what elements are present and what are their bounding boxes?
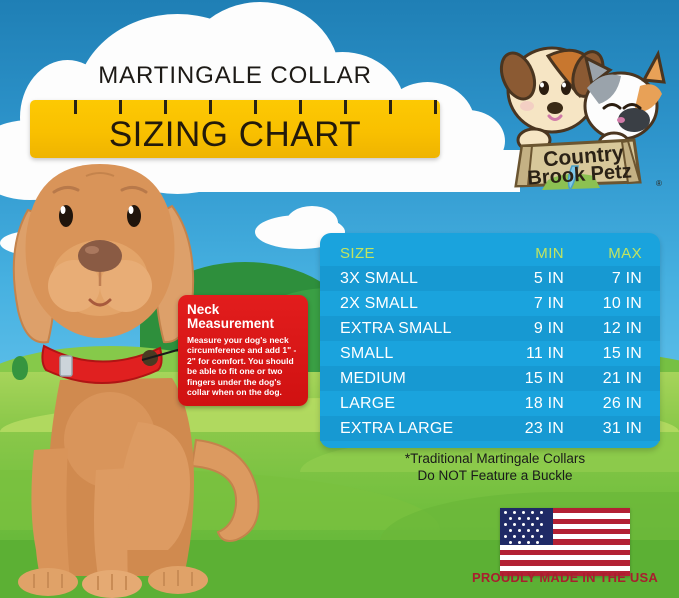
cell-max: 31 IN bbox=[564, 420, 642, 438]
table-row: MEDIUM 15 IN 21 IN bbox=[320, 366, 660, 391]
cell-min: 7 IN bbox=[482, 295, 564, 313]
table-row: 2X SMALL 7 IN 10 IN bbox=[320, 291, 660, 316]
column-header-max: MAX bbox=[564, 245, 642, 262]
dog-tail bbox=[192, 440, 259, 541]
table-row: SMALL 11 IN 15 IN bbox=[320, 341, 660, 366]
ruler-tick bbox=[74, 100, 77, 114]
cell-max: 15 IN bbox=[564, 345, 642, 363]
ruler-tick bbox=[299, 100, 302, 114]
cell-size: EXTRA SMALL bbox=[340, 320, 482, 338]
cell-min: 15 IN bbox=[482, 370, 564, 388]
cell-size: 2X SMALL bbox=[340, 295, 482, 313]
cell-min: 9 IN bbox=[482, 320, 564, 338]
cell-min: 5 IN bbox=[482, 270, 564, 288]
page-title: SIZING CHART bbox=[30, 116, 440, 154]
cell-size: LARGE bbox=[340, 395, 482, 413]
cell-max: 7 IN bbox=[564, 270, 642, 288]
flag-canton bbox=[500, 508, 553, 545]
ruler-tick bbox=[209, 100, 212, 114]
usa-flag-icon bbox=[500, 508, 630, 576]
callout-title-line2: Measurement bbox=[187, 317, 299, 331]
footnote-line1: *Traditional Martingale Collars bbox=[330, 450, 660, 467]
table-row: LARGE 18 IN 26 IN bbox=[320, 391, 660, 416]
dog-nose bbox=[78, 240, 122, 272]
neck-measurement-callout: Neck Measurement Measure your dog's neck… bbox=[178, 295, 308, 406]
callout-body-text: Measure your dog's neck circumference an… bbox=[187, 335, 299, 397]
column-header-size: SIZE bbox=[340, 245, 482, 262]
cell-min: 11 IN bbox=[482, 345, 564, 363]
ruler-tick bbox=[164, 100, 167, 114]
table-header-row: SIZE MIN MAX bbox=[320, 241, 660, 266]
sizing-chart-infographic: MARTINGALE COLLAR SIZING CHART bbox=[0, 0, 679, 598]
ruler-tick bbox=[344, 100, 347, 114]
callout-title-line1: Neck bbox=[187, 303, 299, 317]
cell-size: MEDIUM bbox=[340, 370, 482, 388]
ruler-tick bbox=[254, 100, 257, 114]
dog-front-leg-left bbox=[31, 448, 70, 580]
table-row: EXTRA LARGE 23 IN 31 IN bbox=[320, 416, 660, 441]
kitten-icon bbox=[585, 54, 664, 139]
table-row: EXTRA SMALL 9 IN 12 IN bbox=[320, 316, 660, 341]
cell-max: 10 IN bbox=[564, 295, 642, 313]
table-row: 3X SMALL 5 IN 7 IN bbox=[320, 266, 660, 291]
cell-max: 26 IN bbox=[564, 395, 642, 413]
cell-max: 21 IN bbox=[564, 370, 642, 388]
collar-buckle bbox=[60, 356, 72, 376]
brand-logo: Country Brook Petz ® bbox=[488, 28, 668, 190]
footnote: *Traditional Martingale Collars Do NOT F… bbox=[330, 450, 660, 484]
ruler-tick bbox=[389, 100, 392, 114]
made-in-usa-text: PROUDLY MADE IN THE USA bbox=[460, 570, 670, 585]
cell-max: 12 IN bbox=[564, 320, 642, 338]
cell-size: SMALL bbox=[340, 345, 482, 363]
registered-mark: ® bbox=[656, 179, 662, 188]
cell-size: EXTRA LARGE bbox=[340, 420, 482, 438]
ruler-tick bbox=[119, 100, 122, 114]
cell-size: 3X SMALL bbox=[340, 270, 482, 288]
footnote-line2: Do NOT Feature a Buckle bbox=[330, 467, 660, 484]
column-header-min: MIN bbox=[482, 245, 564, 262]
dog-front-leg-right bbox=[94, 468, 130, 586]
cell-min: 23 IN bbox=[482, 420, 564, 438]
cell-min: 18 IN bbox=[482, 395, 564, 413]
page-subtitle: MARTINGALE COLLAR bbox=[30, 62, 440, 90]
size-chart-table: SIZE MIN MAX 3X SMALL 5 IN 7 IN 2X SMALL… bbox=[320, 233, 660, 448]
ruler-tick bbox=[434, 100, 437, 114]
